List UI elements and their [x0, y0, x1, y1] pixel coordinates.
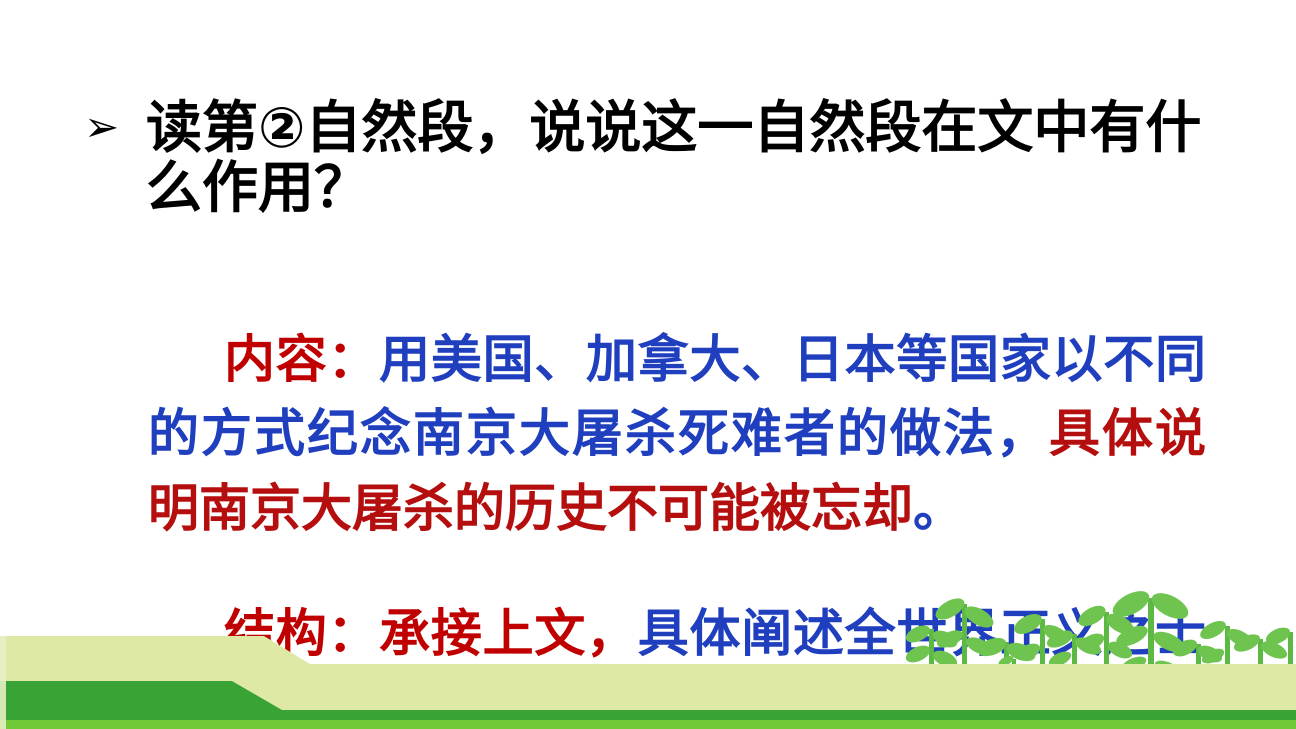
structure-label: 结构：: [224, 605, 379, 662]
question-text-line-1: 读第②自然段，说说这一自然段在文中有什: [146, 98, 1214, 158]
slide-canvas: ➢ 读第②自然段，说说这一自然段在文中有什 么作用？ 内容：用美国、加拿大、日本…: [0, 0, 1296, 729]
question-block: ➢ 读第②自然段，说说这一自然段在文中有什 么作用？: [84, 98, 1214, 219]
content-paragraph: 内容：用美国、加拿大、日本等国家以不同的方式纪念南京大屠杀死难者的做法，具体说明…: [148, 323, 1206, 546]
question-line-1: ➢ 读第②自然段，说说这一自然段在文中有什: [84, 98, 1214, 158]
content-final-period: 。: [913, 480, 964, 537]
question-text-line-2: 么作用？: [146, 158, 1214, 218]
structure-paragraph: 结构：承接上文，具体阐述全世界正义之士的表现，印证前文。: [148, 597, 1206, 729]
arrow-bullet-icon: ➢: [84, 98, 146, 156]
content-label: 内容：: [224, 331, 379, 388]
structure-red-text: 承接上文，: [379, 605, 638, 662]
answer-block: 内容：用美国、加拿大、日本等国家以不同的方式纪念南京大屠杀死难者的做法，具体说明…: [148, 272, 1206, 729]
left-edge-accent: [0, 636, 6, 729]
